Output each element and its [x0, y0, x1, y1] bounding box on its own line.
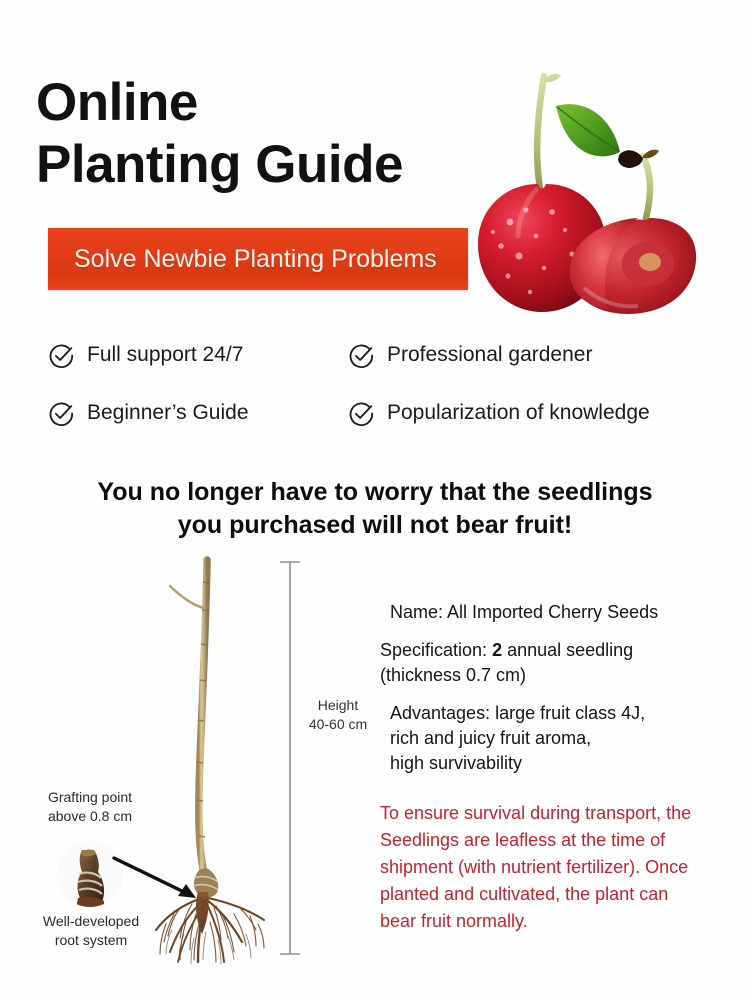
shipping-notice-line-1: To ensure survival during transport, the [380, 800, 728, 827]
arrow-shaft [114, 858, 188, 894]
page-title: Online Planting Guide [36, 72, 506, 196]
shipping-notice-line-5: bear fruit normally. [380, 908, 728, 935]
cherry-calyx-detail [643, 150, 659, 159]
cherry-stem-left [537, 76, 544, 188]
planting-guide-poster: Online Planting Guide Solve Newbie Plant… [0, 0, 750, 1000]
advantages-line-3: high survivability [390, 751, 740, 776]
specification-suffix: annual seedling [502, 640, 633, 660]
height-label-line-2: 40-60 cm [296, 715, 380, 734]
cherry-fruit-image [460, 40, 750, 320]
feature-item-professional-gardener: Professional gardener [348, 326, 708, 384]
seedling-side-branch [170, 586, 204, 608]
specification-line-1: Specification: 2 annual seedling [380, 638, 740, 663]
shipping-notice-line-2: Seedlings are leafless at the time of [380, 827, 728, 854]
product-specification-block: Name: All Imported Cherry Seeds Specific… [380, 600, 740, 776]
headline-line-1: You no longer have to worry that the see… [97, 478, 652, 506]
shipping-notice-line-4: planted and cultivated, the plant can [380, 881, 728, 908]
check-circle-icon [348, 400, 375, 427]
tagline-banner: Solve Newbie Planting Problems [48, 228, 468, 290]
shipping-notice: To ensure survival during transport, the… [380, 800, 728, 935]
root-system-callout: Well-developed root system [18, 912, 164, 950]
check-circle-icon [348, 342, 375, 369]
height-label-line-1: Height [296, 696, 380, 715]
feature-label: Full support 24/7 [87, 343, 243, 367]
height-dimension-label: Height 40-60 cm [296, 696, 380, 734]
tagline-banner-label: Solve Newbie Planting Problems [48, 245, 437, 274]
root-system-line-1: Well-developed [18, 912, 164, 931]
cherry-dried-calyx [618, 150, 643, 168]
feature-item-beginners-guide: Beginner’s Guide [48, 384, 348, 442]
feature-list: Full support 24/7 Professional gardener … [48, 326, 728, 442]
root-system-line-2: root system [18, 931, 164, 950]
feature-label: Beginner’s Guide [87, 401, 249, 425]
feature-label: Popularization of knowledge [387, 401, 650, 425]
reassurance-headline: You no longer have to worry that the see… [0, 476, 750, 542]
feature-item-popularization-of-knowledge: Popularization of knowledge [348, 384, 708, 442]
cherry-pit [639, 253, 661, 271]
check-circle-icon [48, 400, 75, 427]
feature-label: Professional gardener [387, 343, 592, 367]
page-title-line-2: Planting Guide [36, 134, 506, 196]
grafting-point-line-1: Grafting point [22, 788, 158, 807]
shipping-notice-line-3: shipment (with nutrient fertilizer). Onc… [380, 854, 728, 881]
grafting-point-callout: Grafting point above 0.8 cm [22, 788, 158, 826]
advantages-line-1: Advantages: large fruit class 4J, [390, 701, 740, 726]
grafting-point-line-2: above 0.8 cm [22, 807, 158, 826]
product-name: Name: All Imported Cherry Seeds [380, 600, 740, 625]
cherry-stem-right [643, 156, 650, 218]
arrow-pointing-to-graft-icon [108, 848, 208, 910]
feature-item-full-support: Full support 24/7 [48, 326, 348, 384]
specification-prefix: Specification: [380, 640, 492, 660]
specification-value: 2 [492, 640, 502, 660]
page-title-line-1: Online [36, 72, 506, 134]
check-circle-icon [48, 342, 75, 369]
headline-line-2: you purchased will not bear fruit! [0, 509, 750, 542]
product-advantages: Advantages: large fruit class 4J, rich a… [380, 701, 740, 776]
height-dimension-line [265, 548, 315, 968]
specification-line-2: (thickness 0.7 cm) [380, 663, 740, 688]
product-specification: Specification: 2 annual seedling (thickn… [380, 638, 740, 688]
advantages-line-2: rich and juicy fruit aroma, [390, 726, 740, 751]
